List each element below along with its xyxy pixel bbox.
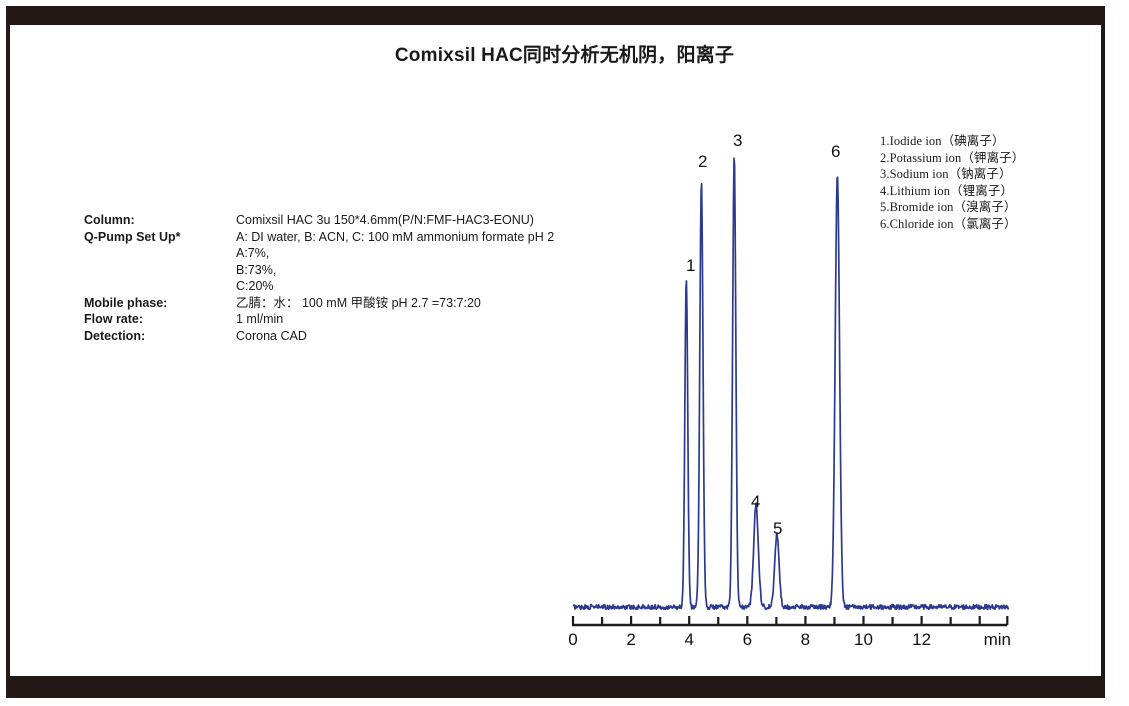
method-row: Detection:Corona CAD [84, 328, 554, 345]
x-axis-tick-label: 6 [727, 630, 767, 650]
chromatogram-plot [560, 120, 1030, 660]
frame-band-bottom [6, 676, 1105, 698]
method-row-value: Comixsil HAC 3u 150*4.6mm(P/N:FMF-HAC3-E… [236, 212, 534, 229]
peak-number-label: 3 [733, 131, 742, 151]
x-axis-unit-label: min [972, 630, 1022, 650]
method-row-value: Corona CAD [236, 328, 307, 345]
slide-canvas: Comixsil HAC同时分析无机阴，阳离子 Column:Comixsil … [0, 0, 1129, 706]
peak-number-label: 5 [773, 519, 782, 539]
x-axis-tick-label: 4 [669, 630, 709, 650]
method-row-label: Detection: [84, 328, 236, 345]
peak-number-label: 2 [698, 152, 707, 172]
peak-number-label: 6 [831, 142, 840, 162]
method-row-value: C:20% [236, 278, 274, 295]
x-axis [572, 616, 1007, 625]
chromatogram-svg [560, 120, 1030, 660]
peak-number-label: 1 [686, 256, 695, 276]
method-row: B:73%, [84, 262, 554, 279]
method-row: Mobile phase:乙腈：水： 100 mM 甲酸铵 pH 2.7 =73… [84, 295, 554, 312]
x-axis-tick-label: 8 [785, 630, 825, 650]
method-row-label: Flow rate: [84, 311, 236, 328]
x-axis-tick-label: 10 [844, 630, 884, 650]
method-row-label: Q-Pump Set Up* [84, 229, 236, 246]
frame-band-top [6, 6, 1105, 25]
method-row-label: Mobile phase: [84, 295, 236, 312]
page-title: Comixsil HAC同时分析无机阴，阳离子 [0, 40, 1129, 67]
method-row-value: 1 ml/min [236, 311, 283, 328]
frame-band-right [1101, 6, 1105, 698]
method-row: C:20% [84, 278, 554, 295]
method-row-value: 乙腈：水： 100 mM 甲酸铵 pH 2.7 =73:7:20 [236, 295, 481, 312]
x-axis-tick-label: 12 [902, 630, 942, 650]
method-row-value: A: DI water, B: ACN, C: 100 mM ammonium … [236, 229, 554, 246]
method-row-value: B:73%, [236, 262, 276, 279]
chromatogram-trace [573, 158, 1009, 609]
method-row-label [84, 278, 236, 295]
method-row-label [84, 262, 236, 279]
method-row-value: A:7%, [236, 245, 269, 262]
method-row: Flow rate:1 ml/min [84, 311, 554, 328]
method-row-label [84, 245, 236, 262]
method-row: Q-Pump Set Up*A: DI water, B: ACN, C: 10… [84, 229, 554, 246]
x-axis-tick-label: 2 [611, 630, 651, 650]
x-axis-tick-label: 0 [553, 630, 593, 650]
peak-number-label: 4 [751, 492, 760, 512]
method-row: A:7%, [84, 245, 554, 262]
method-parameters-table: Column:Comixsil HAC 3u 150*4.6mm(P/N:FMF… [84, 212, 554, 344]
method-row: Column:Comixsil HAC 3u 150*4.6mm(P/N:FMF… [84, 212, 554, 229]
method-row-label: Column: [84, 212, 236, 229]
